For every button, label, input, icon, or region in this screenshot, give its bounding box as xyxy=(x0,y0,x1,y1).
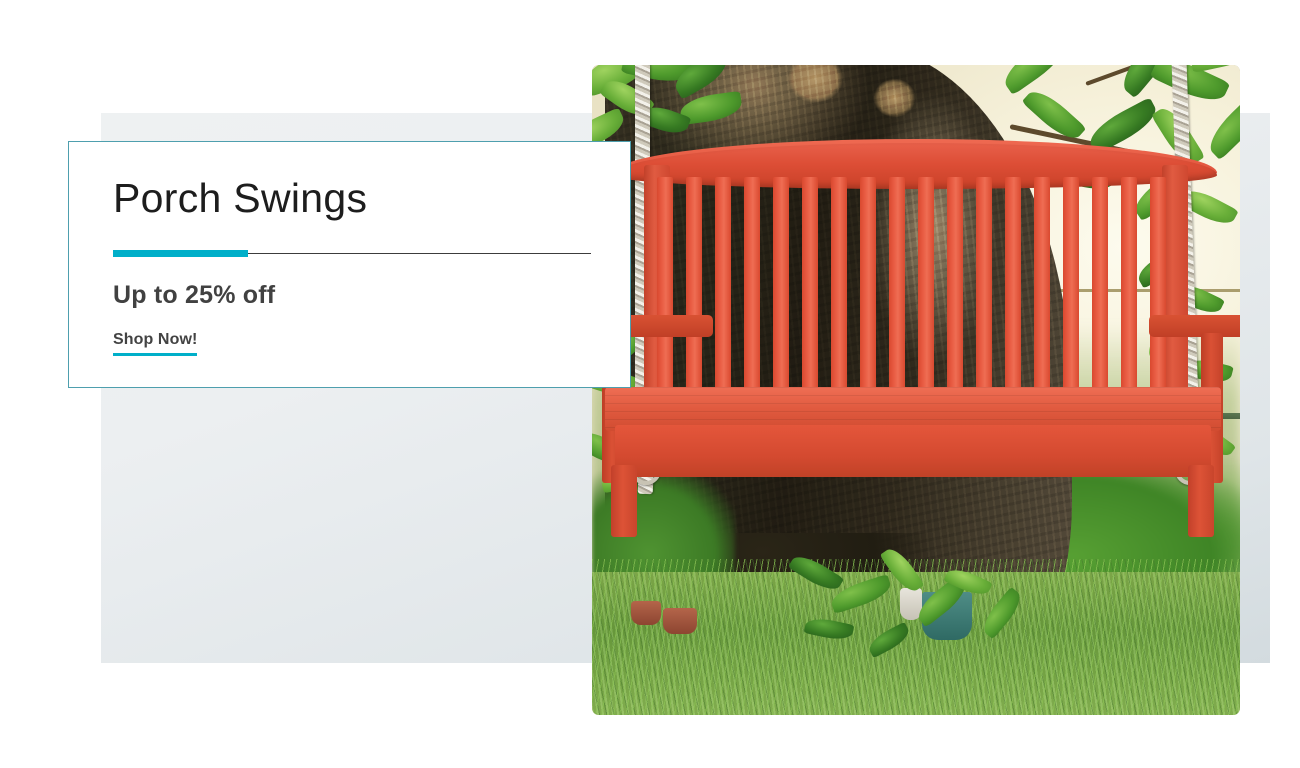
swing-slat xyxy=(976,177,992,392)
photo-flower-pot-terracotta-1 xyxy=(631,601,661,625)
swing-slat xyxy=(1034,177,1050,392)
photo-flower-pot-terracotta-2 xyxy=(663,608,697,634)
promo-card-content: Porch Swings Up to 25% off Shop Now! xyxy=(113,178,602,356)
swing-slat xyxy=(686,177,702,392)
porch-swing-photo xyxy=(592,65,1240,715)
shop-now-link[interactable]: Shop Now! xyxy=(113,331,197,356)
swing-slat xyxy=(1121,177,1137,392)
swing-slat xyxy=(1063,177,1079,392)
swing-slat xyxy=(889,177,905,392)
swing-slat xyxy=(744,177,760,392)
swing-slat xyxy=(1092,177,1108,392)
swing-slat xyxy=(1150,177,1166,392)
swing-armrest-right xyxy=(1149,315,1240,337)
swing-back-slats xyxy=(657,177,1175,392)
swing-slat xyxy=(831,177,847,392)
swing-slat xyxy=(1005,177,1021,392)
swing-leg-left xyxy=(611,465,637,537)
promo-card: Porch Swings Up to 25% off Shop Now! xyxy=(68,141,631,388)
swing-front-apron xyxy=(615,425,1211,477)
swing-slat xyxy=(802,177,818,392)
swing-slat xyxy=(657,177,673,392)
swing-slat xyxy=(860,177,876,392)
promo-subtitle: Up to 25% off xyxy=(113,281,602,310)
title-divider xyxy=(113,250,591,258)
swing-slat xyxy=(918,177,934,392)
swing-slat xyxy=(773,177,789,392)
photo-ground-plants xyxy=(773,546,1032,715)
porch-swings-promo-banner: Porch Swings Up to 25% off Shop Now! xyxy=(0,0,1300,768)
page-title: Porch Swings xyxy=(113,178,602,219)
swing-leg-right xyxy=(1188,465,1214,537)
divider-accent-bar xyxy=(113,250,248,257)
swing-slat xyxy=(715,177,731,392)
swing-slat xyxy=(947,177,963,392)
